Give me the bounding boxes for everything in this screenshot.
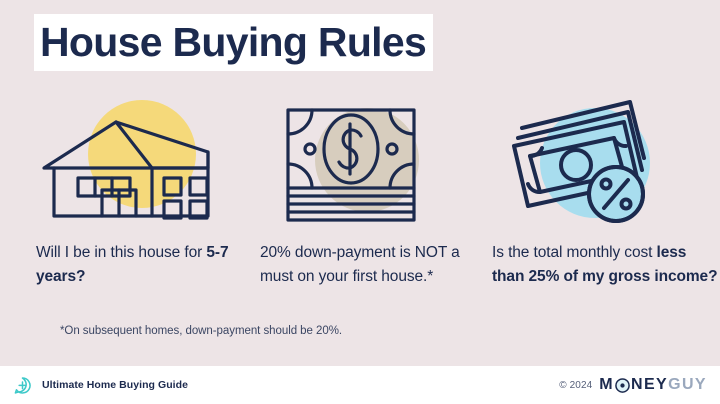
page-title-wrap: House Buying Rules [34,14,433,71]
eye-target-icon [615,378,630,393]
footer-brand-group: Ultimate Home Buying Guide [13,376,188,395]
cash-stack-percent-icon [504,94,664,226]
rule-caption-3-text: Is the total monthly cost [492,244,657,261]
copyright-text: © 2024 [559,380,592,391]
rule-column-3: Is the total monthly cost less than 25% … [474,92,720,288]
brand-letter-m: M [599,376,614,394]
page-title: House Buying Rules [34,14,433,71]
footnote: *On subsequent homes, down-payment shoul… [60,325,342,337]
footer-label: Ultimate Home Buying Guide [42,379,188,391]
infographic-canvas: House Buying Rules [0,0,720,404]
icon-container-1 [36,92,248,224]
speech-bubble-plus-icon [13,376,32,395]
footer-bar: Ultimate Home Buying Guide © 2024 M NEY … [0,366,720,404]
rule-caption-1-text: Will I be in this house for [36,244,206,261]
rules-columns: Will I be in this house for 5-7 years? [0,92,720,288]
brand-letters-ney: NEY [631,376,668,394]
house-icon [40,106,220,224]
rule-column-1: Will I be in this house for 5-7 years? [0,92,248,288]
rule-caption-3: Is the total monthly cost less than 25% … [492,241,720,288]
rule-caption-1: Will I be in this house for 5-7 years? [36,241,248,288]
footer-copyright-group: © 2024 M NEY GUY [559,376,707,394]
icon-container-2 [260,92,474,224]
rule-column-2: 20% down-payment is NOT a must on your f… [248,92,474,288]
brand-letters-guy: GUY [668,376,707,394]
moneyguy-logo: M NEY GUY [599,376,707,394]
rule-caption-2-text: 20% down-payment is NOT a must on your f… [260,244,460,285]
icon-container-3 [492,92,720,224]
dollar-bill-icon [284,106,424,226]
rule-caption-2: 20% down-payment is NOT a must on your f… [260,241,474,288]
